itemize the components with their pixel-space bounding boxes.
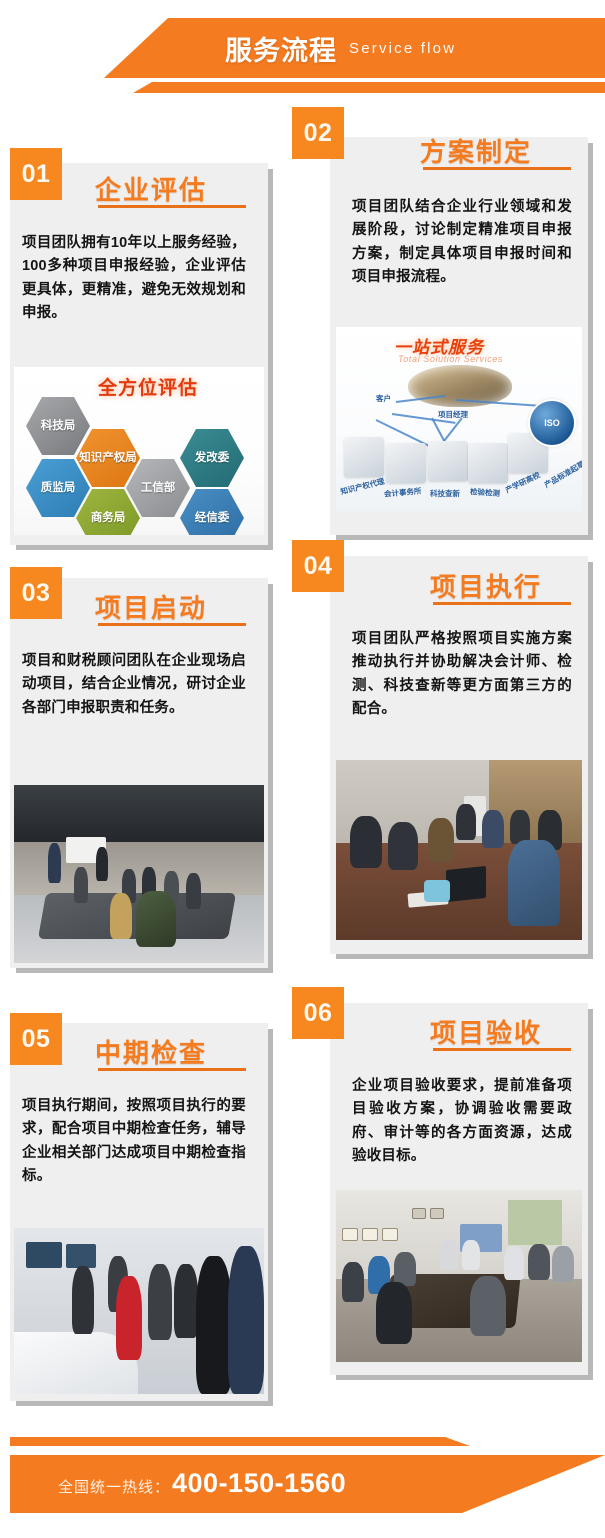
- photo-person-foreground: [136, 891, 176, 947]
- one-stop-leaf-label-3: 科技查新: [430, 488, 460, 499]
- photo-person-foreground: [508, 840, 560, 926]
- photo-bag: [424, 880, 450, 902]
- photo-laptop: [446, 866, 486, 902]
- footer-accent-stripe: [10, 1437, 605, 1446]
- step-body-02: 项目团队结合企业行业领域和发展阶段，讨论制定精准项目申报方案，制定具体项目申报时…: [352, 196, 572, 290]
- step-number-badge-04: 04: [292, 540, 344, 592]
- photo-person: [96, 847, 108, 881]
- one-stop-leaf-label-1: 知识产权代理: [339, 476, 385, 498]
- photo-person: [72, 1266, 94, 1334]
- photo-person-foreground: [228, 1246, 264, 1394]
- photo-person: [48, 843, 61, 883]
- photo-wall-panel: [508, 1200, 562, 1245]
- one-stop-label-pm: 项目经理: [438, 409, 468, 420]
- photo-person-foreground: [470, 1276, 506, 1336]
- page-title-en: Service flow: [349, 40, 456, 57]
- step-body-04: 项目团队严格按照项目实施方案推动执行并协助解决会计师、检测、科技查新等更方面第三…: [352, 628, 572, 722]
- step-title-01: 企业评估: [95, 170, 207, 207]
- photo-person: [394, 1252, 416, 1286]
- step-title-04: 项目执行: [430, 567, 542, 604]
- photo-person: [186, 873, 201, 909]
- hexagon-evaluation-figure: 全方位评估 科技局 知识产权局 质监局 商务局 工信部 发改委 经信委: [14, 367, 264, 535]
- photo-person-foreground: [196, 1256, 232, 1394]
- one-stop-caption-en: Total Solution Services: [398, 354, 503, 364]
- step-title-02: 方案制定: [420, 132, 532, 169]
- header-title-group: 服务流程 Service flow: [225, 26, 456, 70]
- step-body-01: 项目团队拥有10年以上服务经验，100多种项目申报经验，企业评估更具体，更精准，…: [22, 232, 246, 326]
- step-body-05: 项目执行期间，按照项目执行的要求，配合项目中期检查任务，辅导企业相关部门达成项目…: [22, 1095, 246, 1189]
- one-stop-leaf-img-4: [468, 443, 508, 483]
- header-accent-stripe: [0, 82, 605, 93]
- step-title-06: 项目验收: [430, 1013, 542, 1050]
- step-photo-04: [336, 760, 582, 940]
- one-stop-leaf-img-3: [428, 441, 468, 481]
- hexagon-node-zhijian: 质监局: [26, 459, 90, 517]
- hotline-number[interactable]: 400-150-1560: [172, 1468, 346, 1499]
- photo-display-screen: [26, 1242, 62, 1268]
- footer-hotline-group: 全国统一热线： 400-150-1560: [58, 1468, 346, 1500]
- title-underline-01: [98, 205, 246, 208]
- step-number-badge-05: 05: [10, 1013, 62, 1065]
- step-photo-03: [14, 785, 264, 963]
- one-stop-leaf-label-6: 产品标准起草: [542, 458, 582, 490]
- one-stop-leaf-label-5: 产学研高校: [503, 469, 542, 495]
- photo-person: [110, 893, 132, 939]
- hexagon-node-keji: 科技局: [26, 397, 90, 455]
- photo-person: [440, 1240, 458, 1270]
- step-number-badge-03: 03: [10, 567, 62, 619]
- step-number-badge-01: 01: [10, 148, 62, 200]
- step-title-05: 中期检查: [95, 1033, 207, 1070]
- photo-person: [174, 1264, 198, 1338]
- title-underline-03: [98, 623, 246, 626]
- title-underline-04: [433, 602, 571, 605]
- one-stop-leaf-label-2: 会计事务所: [384, 485, 422, 499]
- photo-ceiling: [14, 785, 264, 842]
- page-title-cn: 服务流程: [225, 29, 337, 68]
- photo-certificate-frame: [342, 1228, 358, 1241]
- page-header: 服务流程 Service flow: [0, 0, 605, 110]
- step-body-03: 项目和财税顾问团队在企业现场启动项目，结合企业情况，研讨企业各部门申报职责和任务…: [22, 650, 246, 720]
- step-title-03: 项目启动: [95, 588, 207, 625]
- photo-person: [148, 1264, 172, 1340]
- one-stop-leaf-img-1: [344, 437, 384, 477]
- photo-person: [552, 1246, 574, 1282]
- hexagon-node-fagai: 发改委: [180, 429, 244, 487]
- hexagon-node-gongxin: 工信部: [126, 459, 190, 517]
- iso-seal-icon: ISO: [530, 401, 574, 445]
- photo-frame: [430, 1208, 444, 1219]
- title-underline-05: [98, 1068, 246, 1071]
- photo-person: [510, 810, 530, 844]
- hexagon-node-zscq: 知识产权局: [76, 429, 140, 487]
- photo-person: [350, 816, 382, 868]
- hexagon-node-jingxin: 经信委: [180, 489, 244, 535]
- step-body-06: 企业项目验收要求，提前准备项目验收方案，协调验收需要政府、审计等的各方面资源，达…: [352, 1075, 572, 1169]
- title-underline-06: [433, 1048, 571, 1051]
- one-stop-label-customer: 客户: [376, 393, 391, 404]
- photo-certificate-frame: [362, 1228, 378, 1241]
- title-underline-02: [423, 167, 571, 170]
- one-stop-leaf-label-4: 检验检测: [470, 486, 501, 499]
- photo-display-screen: [66, 1244, 96, 1268]
- step-photo-06: [336, 1190, 582, 1362]
- one-stop-leaf-img-2: [386, 443, 426, 483]
- photo-person: [428, 818, 454, 862]
- hexagon-figure-caption: 全方位评估: [98, 373, 198, 400]
- photo-person: [504, 1246, 524, 1280]
- photo-person: [482, 810, 504, 848]
- photo-person-red-coat: [116, 1276, 142, 1360]
- photo-person: [456, 804, 476, 840]
- step-number-badge-06: 06: [292, 987, 344, 1039]
- photo-person: [528, 1244, 550, 1280]
- photo-person: [388, 822, 418, 870]
- photo-frame: [412, 1208, 426, 1219]
- step-number-badge-02: 02: [292, 107, 344, 159]
- photo-certificate-frame: [382, 1228, 398, 1241]
- photo-person-foreground: [376, 1282, 412, 1344]
- step-photo-05: [14, 1228, 264, 1394]
- photo-person: [74, 867, 88, 903]
- hotline-label: 全国统一热线：: [58, 1476, 170, 1497]
- photo-person: [342, 1262, 364, 1302]
- photo-person: [462, 1240, 480, 1270]
- one-stop-service-figure: 一站式服务 Total Solution Services 客户 项目经理 IS…: [336, 327, 582, 513]
